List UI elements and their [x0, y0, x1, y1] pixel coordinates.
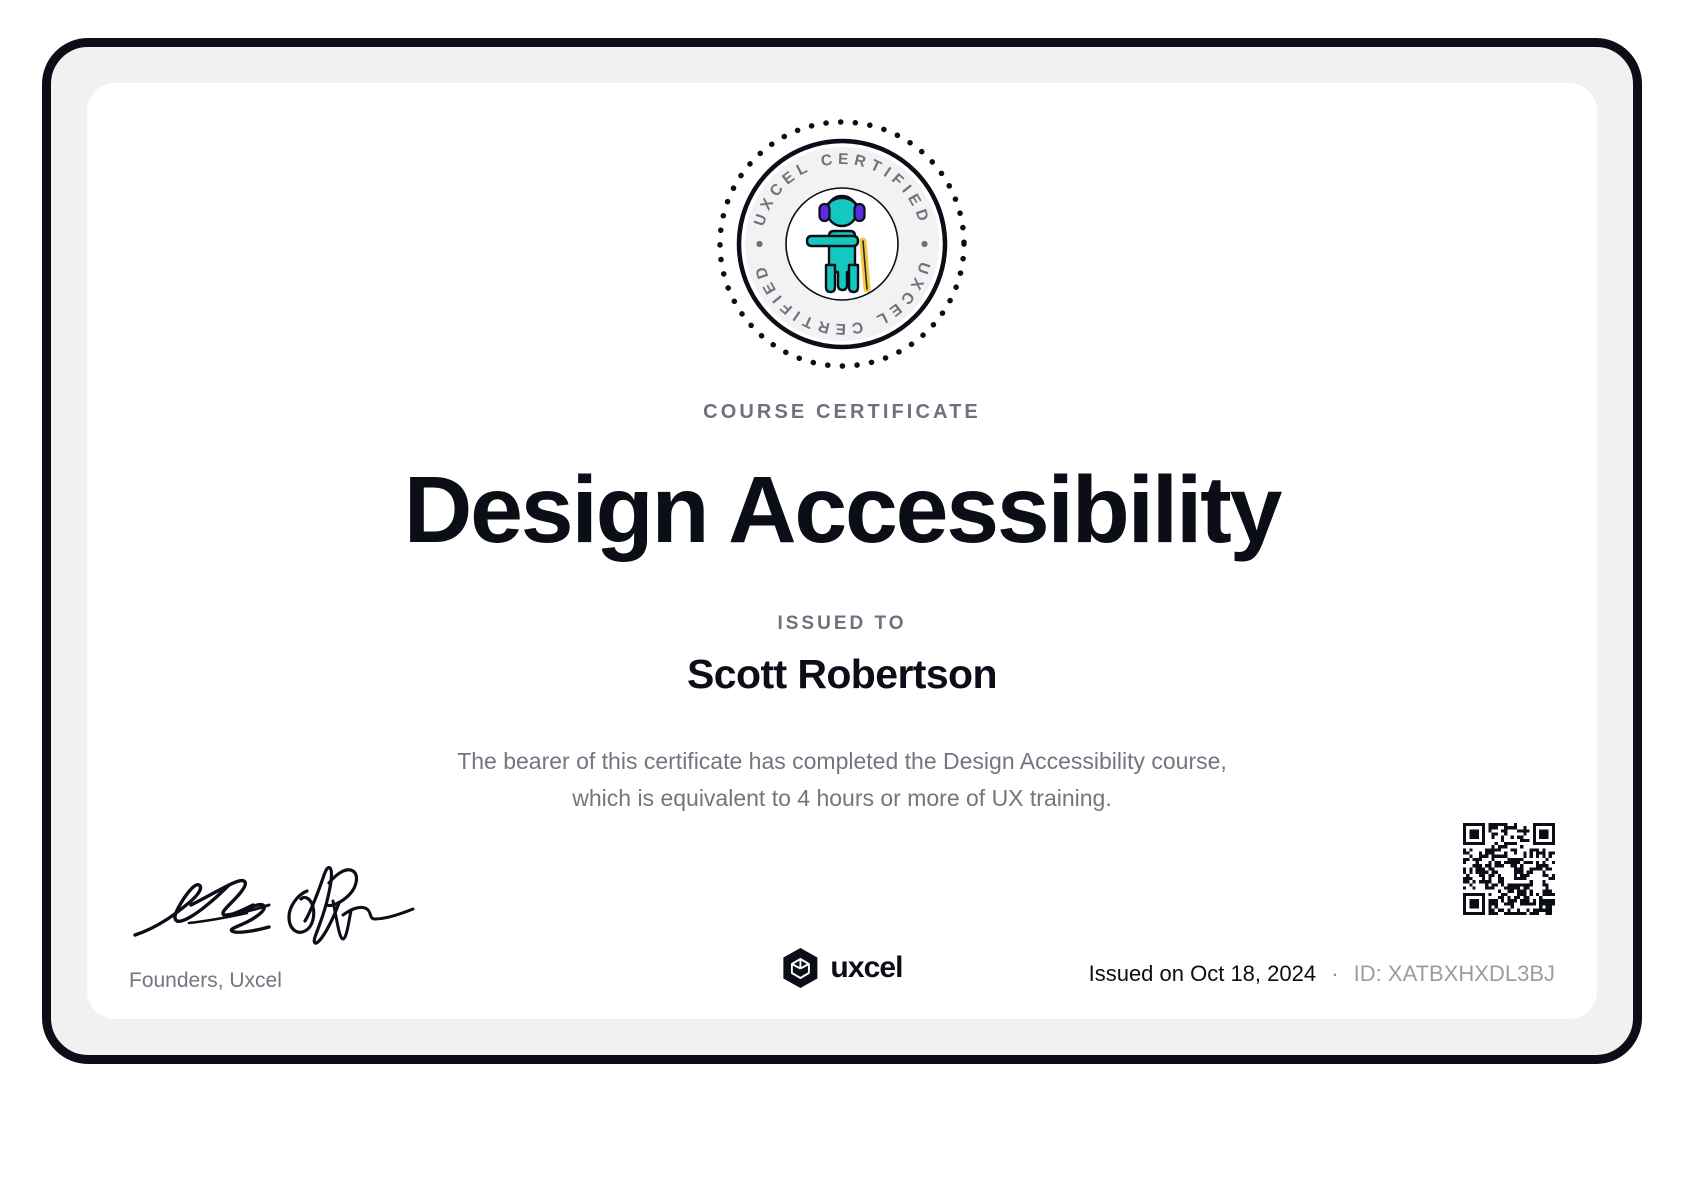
description-line-2: which is equivalent to 4 hours or more o…	[87, 780, 1597, 817]
description-line-1: The bearer of this certificate has compl…	[87, 743, 1597, 780]
uxcel-wordmark: uxcel	[830, 951, 902, 985]
issued-to-label: ISSUED TO	[87, 613, 1597, 635]
certificate-id: ID: XATBXHXDL3BJ	[1354, 961, 1555, 986]
issue-metadata: Issued on Oct 18, 2024 · ID: XATBXHXDL3B…	[1089, 961, 1555, 987]
certificate-footer: Founders, Uxcel uxcel Issued on Oct 18, …	[87, 818, 1597, 993]
certificate-frame: UXCEL CERTIFIED UXCEL CERTIFIED	[42, 38, 1642, 1064]
verification-qr-code[interactable]	[1463, 823, 1555, 915]
seal-bullet-right	[921, 241, 927, 247]
signature-caption: Founders, Uxcel	[129, 969, 459, 993]
issued-on-date: Issued on Oct 18, 2024	[1089, 961, 1317, 986]
uxcel-logo: uxcel	[781, 947, 902, 989]
signature-block: Founders, Uxcel	[129, 861, 459, 993]
certificate-title: Design Accessibility	[87, 461, 1597, 561]
certificate-description: The bearer of this certificate has compl…	[87, 743, 1597, 818]
uxcel-certified-seal: UXCEL CERTIFIED UXCEL CERTIFIED	[713, 115, 971, 373]
certificate-card: UXCEL CERTIFIED UXCEL CERTIFIED	[87, 83, 1597, 1019]
certificate-kind-label: COURSE CERTIFICATE	[87, 401, 1597, 424]
seal-bullet-left	[756, 241, 762, 247]
meta-separator: ·	[1322, 961, 1347, 986]
founders-signature-image	[129, 861, 419, 953]
recipient-name: Scott Robertson	[87, 651, 1597, 698]
uxcel-hexagon-cube-icon	[781, 947, 819, 989]
